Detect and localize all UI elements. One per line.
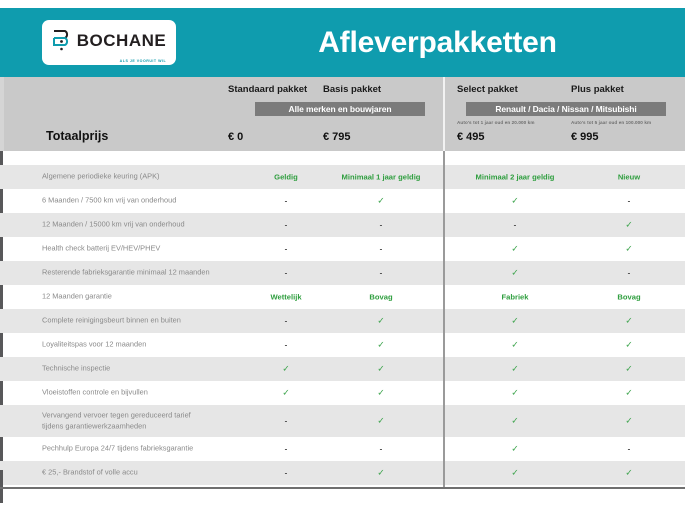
table-cell-c1: Bovag <box>326 293 436 302</box>
table-cell-c3: ✓ <box>574 416 684 427</box>
table-row: Loyaliteitspas voor 12 maanden-✓✓✓ <box>0 333 685 357</box>
table-cell-c2: ✓ <box>460 444 570 455</box>
table-cell-c3: ✓ <box>574 364 684 375</box>
table-cell-c0: Wettelijk <box>231 293 341 302</box>
row-label: Complete reinigingsbeurt binnen en buite… <box>42 316 181 327</box>
table-group-divider <box>443 151 445 488</box>
table-cell-c2: Minimaal 2 jaar geldig <box>460 173 570 182</box>
table-cell-c1: ✓ <box>326 416 436 427</box>
table-cell-c2: ✓ <box>460 244 570 255</box>
table-cell-c2: ✓ <box>460 416 570 427</box>
package-note-plus: Auto's tot 5 jaar oud en 100.000 km <box>571 120 651 125</box>
table-row: € 25,- Brandstof of volle accu-✓✓✓ <box>0 461 685 485</box>
table-cell-c2: Fabriek <box>460 293 570 302</box>
table-cell-c1: ✓ <box>326 364 436 375</box>
package-title-basis: Basis pakket <box>323 84 381 95</box>
table-cell-c3: ✓ <box>574 244 684 255</box>
table-cell-c2: ✓ <box>460 196 570 207</box>
row-label: € 25,- Brandstof of volle accu <box>42 468 138 479</box>
table-cell-c1: ✓ <box>326 316 436 327</box>
header-left-edge <box>0 77 4 151</box>
table-cell-c3: Bovag <box>574 293 684 302</box>
table-cell-c3: ✓ <box>574 220 684 231</box>
comparison-table: Algemene periodieke keuring (APK)GeldigM… <box>0 151 685 503</box>
table-cell-c3: - <box>574 269 684 278</box>
top-banner: BOCHANE ALS JE VOORUIT WIL Afleverpakket… <box>0 8 685 77</box>
table-row: 12 Maanden / 15000 km vrij van onderhoud… <box>0 213 685 237</box>
table-cell-c0: - <box>231 445 341 454</box>
table-cell-c1: - <box>326 245 436 254</box>
table-row: Vervangend vervoer tegen gereduceerd tar… <box>0 405 685 437</box>
table-cell-c1: Minimaal 1 jaar geldig <box>326 173 436 182</box>
row-label: Loyaliteitspas voor 12 maanden <box>42 340 146 351</box>
row-label: Health check batterij EV/HEV/PHEV <box>42 244 160 255</box>
table-cell-c3: ✓ <box>574 468 684 479</box>
table-cell-c0: - <box>231 469 341 478</box>
row-label: Vervangend vervoer tegen gereduceerd tar… <box>42 410 191 431</box>
table-cell-c0: - <box>231 269 341 278</box>
table-cell-c3: - <box>574 197 684 206</box>
table-cell-c0: Geldig <box>231 173 341 182</box>
table-cell-c0: - <box>231 221 341 230</box>
table-cell-c2: ✓ <box>460 364 570 375</box>
table-cell-c0: ✓ <box>231 364 341 375</box>
table-cell-c0: - <box>231 317 341 326</box>
table-cell-c0: ✓ <box>231 388 341 399</box>
table-cell-c3: ✓ <box>574 388 684 399</box>
logo-wordmark: BOCHANE <box>77 32 166 49</box>
table-spacer-row <box>0 151 685 165</box>
table-cell-c0: - <box>231 417 341 426</box>
package-price-standaard: € 0 <box>228 131 243 143</box>
table-cell-c0: - <box>231 341 341 350</box>
package-price-select: € 495 <box>457 131 485 143</box>
table-cell-c1: ✓ <box>326 340 436 351</box>
bochane-logo: BOCHANE ALS JE VOORUIT WIL <box>42 20 176 65</box>
package-price-basis: € 795 <box>323 131 351 143</box>
table-row: Technische inspectie✓✓✓✓ <box>0 357 685 381</box>
table-cell-c1: - <box>326 269 436 278</box>
table-cell-c1: ✓ <box>326 388 436 399</box>
row-label: Pechhulp Europa 24/7 tijdens fabrieksgar… <box>42 444 193 455</box>
table-row: Health check batterij EV/HEV/PHEV--✓✓ <box>0 237 685 261</box>
table-cell-c2: ✓ <box>460 268 570 279</box>
totaalprijs-label: Totaalprijs <box>46 129 108 143</box>
table-cell-c2: - <box>460 221 570 230</box>
row-label: Vloeistoffen controle en bijvullen <box>42 388 148 399</box>
table-row: 6 Maanden / 7500 km vrij van onderhoud-✓… <box>0 189 685 213</box>
package-title-select: Select pakket <box>457 84 518 95</box>
page-title-text: Afleverpakketten <box>318 26 557 60</box>
table-row: Algemene periodieke keuring (APK)GeldigM… <box>0 165 685 189</box>
table-cell-c0: - <box>231 245 341 254</box>
table-cell-c1: - <box>326 445 436 454</box>
page-title: Afleverpakketten <box>190 8 685 77</box>
bochane-mark-icon <box>52 29 72 53</box>
table-row: Complete reinigingsbeurt binnen en buite… <box>0 309 685 333</box>
package-note-select: Auto's tot 1 jaar oud en 20.000 km <box>457 120 535 125</box>
table-cell-c0: - <box>231 197 341 206</box>
group-badge-alle-merken: Alle merken en bouwjaren <box>255 102 425 116</box>
row-label: Resterende fabrieksgarantie minimaal 12 … <box>42 268 210 279</box>
package-title-plus: Plus pakket <box>571 84 624 95</box>
header-group-divider <box>443 77 445 151</box>
logo-tagline: ALS JE VOORUIT WIL <box>120 59 167 63</box>
package-price-plus: € 995 <box>571 131 599 143</box>
table-cell-c1: ✓ <box>326 196 436 207</box>
table-cell-c3: ✓ <box>574 340 684 351</box>
table-cell-c3: ✓ <box>574 316 684 327</box>
package-title-standaard: Standaard pakket <box>228 84 307 95</box>
table-cell-c3: Nieuw <box>574 173 684 182</box>
table-cell-c2: ✓ <box>460 340 570 351</box>
table-row: 12 Maanden garantieWettelijkBovagFabriek… <box>0 285 685 309</box>
table-bottom-border <box>0 487 685 489</box>
group-badge-renault-dacia-nissan-mitsubishi: Renault / Dacia / Nissan / Mitsubishi <box>466 102 666 116</box>
row-label: Algemene periodieke keuring (APK) <box>42 172 160 183</box>
row-label: Technische inspectie <box>42 364 110 375</box>
table-cell-c3: - <box>574 445 684 454</box>
row-label: 12 Maanden / 15000 km vrij van onderhoud <box>42 220 185 231</box>
table-cell-c2: ✓ <box>460 316 570 327</box>
table-cell-c1: ✓ <box>326 468 436 479</box>
table-row: Resterende fabrieksgarantie minimaal 12 … <box>0 261 685 285</box>
table-cell-c2: ✓ <box>460 388 570 399</box>
row-label: 6 Maanden / 7500 km vrij van onderhoud <box>42 196 176 207</box>
table-cell-c2: ✓ <box>460 468 570 479</box>
table-row: Vloeistoffen controle en bijvullen✓✓✓✓ <box>0 381 685 405</box>
table-cell-c1: - <box>326 221 436 230</box>
table-row: Pechhulp Europa 24/7 tijdens fabrieksgar… <box>0 437 685 461</box>
table-left-edge-bottom <box>0 470 3 488</box>
row-label: 12 Maanden garantie <box>42 292 112 303</box>
